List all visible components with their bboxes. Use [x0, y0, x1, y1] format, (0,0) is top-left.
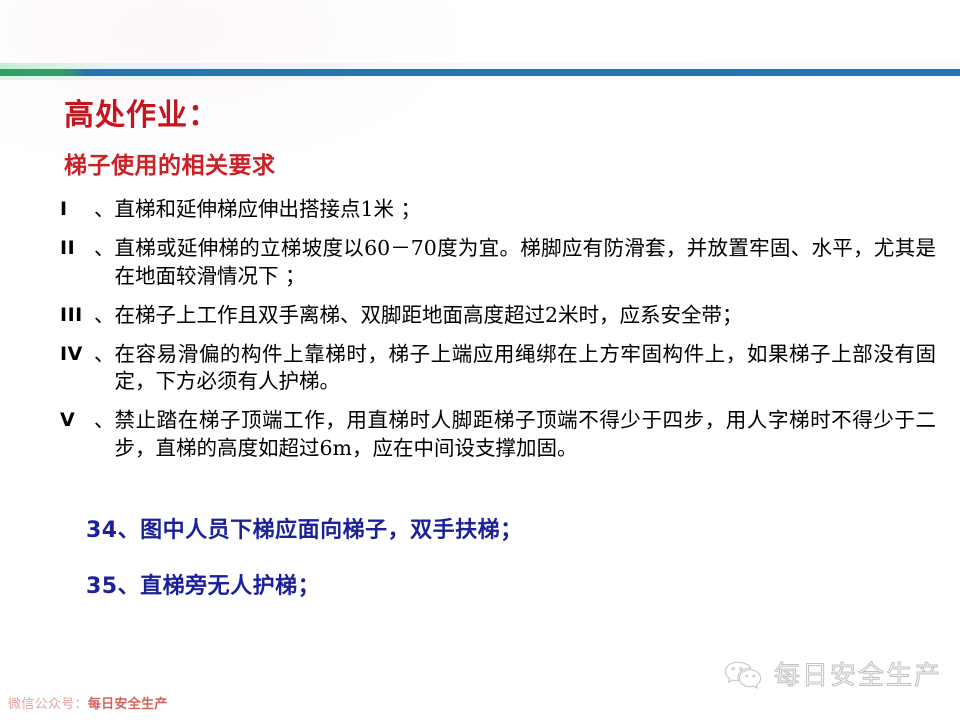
list-item: IV 、 在容易滑偏的构件上靠梯时，梯子上端应用绳绑在上方牢固构件上，如果梯子上… — [60, 341, 936, 397]
list-item: V 、 禁止踏在梯子顶端工作，用直梯时人脚距梯子顶端不得少于四步，用人字梯时不得… — [60, 407, 936, 463]
list-item-marker: I — [60, 196, 94, 223]
footer-watermark-account: 每日安全生产 — [88, 697, 168, 712]
list-item-text: 在梯子上工作且双手离梯、双脚距地面高度超过2米时，应系安全带； — [115, 302, 937, 330]
page-title: 高处作业： — [64, 101, 219, 131]
requirements-list: I 、 直梯和延伸梯应伸出搭接点1米 ； II 、 直梯或延伸梯的立梯坡度以60… — [60, 196, 936, 474]
list-item-marker: II — [60, 235, 94, 262]
list-item: III 、 在梯子上工作且双手离梯、双脚距地面高度超过2米时，应系安全带； — [60, 302, 936, 330]
list-item-marker: IV — [60, 341, 94, 368]
list-item-separator: 、 — [94, 302, 115, 330]
brand-logo: 每日安全生产 — [722, 655, 942, 692]
slide-canvas: 高处作业： 梯子使用的相关要求 I 、 直梯和延伸梯应伸出搭接点1米 ； II … — [0, 0, 960, 720]
list-item-marker: III — [60, 302, 94, 329]
highlighted-notes-list: 34、图中人员下梯应面向梯子，双手扶梯； 35、直梯旁无人护梯； — [86, 520, 886, 632]
list-item-text: 直梯或延伸梯的立梯坡度以60－70度为宜。梯脚应有防滑套，并放置牢固、水平，尤其… — [115, 235, 937, 291]
list-item: I 、 直梯和延伸梯应伸出搭接点1米 ； — [60, 196, 936, 224]
list-item-separator: 、 — [94, 341, 115, 369]
brand-name: 每日安全生产 — [774, 655, 942, 692]
wechat-icon — [722, 658, 764, 690]
top-divider-rule — [0, 69, 960, 76]
list-item-text: 在容易滑偏的构件上靠梯时，梯子上端应用绳绑在上方牢固构件上，如果梯子上部没有固定… — [115, 341, 937, 397]
footer-watermark: 微信公众号：每日安全生产 — [8, 693, 168, 712]
note-item-35: 35、直梯旁无人护梯； — [86, 576, 886, 598]
list-item-text: 直梯和延伸梯应伸出搭接点1米 ； — [115, 196, 937, 224]
list-item-text: 禁止踏在梯子顶端工作，用直梯时人脚距梯子顶端不得少于四步，用人字梯时不得少于二步… — [115, 407, 937, 463]
top-rule-shadow — [0, 76, 960, 80]
list-item: II 、 直梯或延伸梯的立梯坡度以60－70度为宜。梯脚应有防滑套，并放置牢固、… — [60, 235, 936, 291]
list-item-separator: 、 — [94, 235, 115, 263]
page-subtitle: 梯子使用的相关要求 — [64, 155, 276, 178]
list-item-separator: 、 — [94, 407, 115, 435]
list-item-marker: V — [60, 407, 94, 434]
list-item-separator: 、 — [94, 196, 115, 224]
footer-watermark-prefix: 微信公众号： — [8, 697, 88, 712]
note-item-34: 34、图中人员下梯应面向梯子，双手扶梯； — [86, 520, 886, 542]
